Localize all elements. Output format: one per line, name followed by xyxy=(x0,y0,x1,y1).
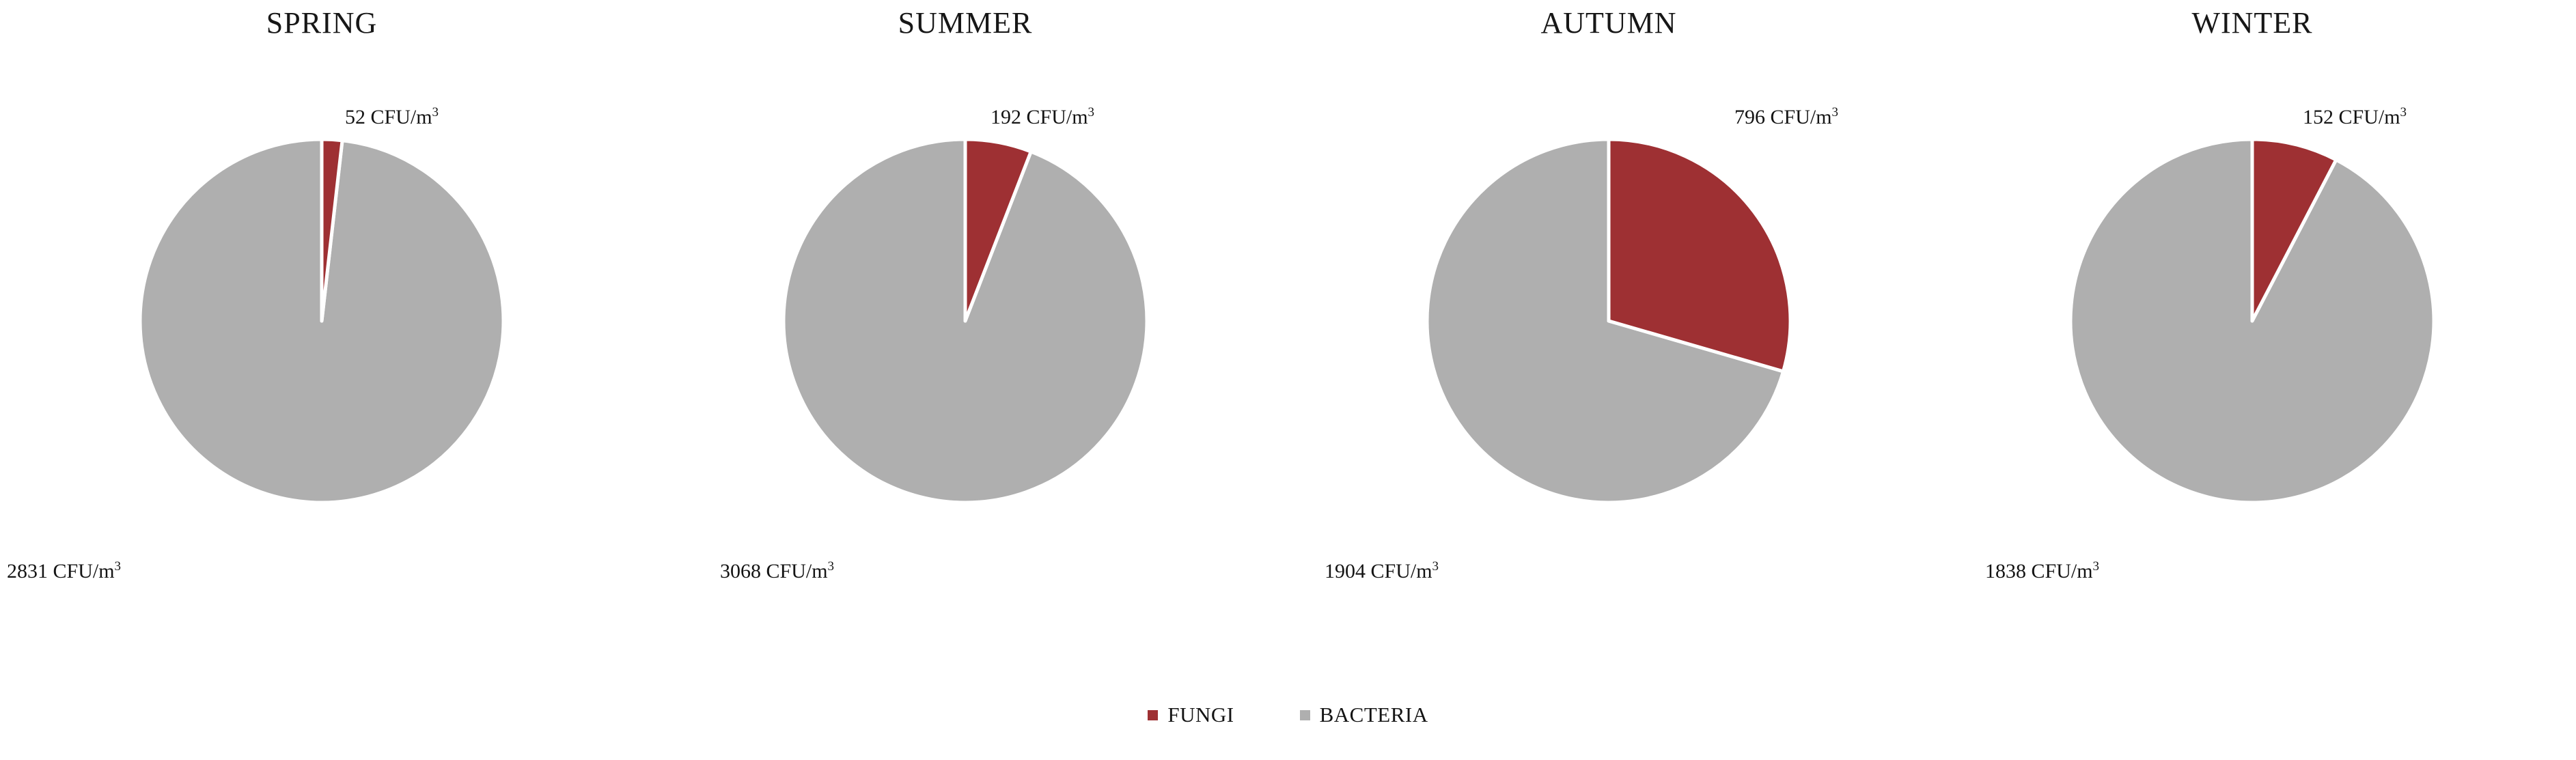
fungi-value-sup-winter: 3 xyxy=(2400,105,2407,119)
fungi-value-text-spring: 52 CFU/m xyxy=(345,106,432,128)
legend-item-bacteria[interactable]: BACTERIA xyxy=(1300,703,1428,727)
legend-label-bacteria: BACTERIA xyxy=(1320,703,1428,727)
bacteria-value-label-winter: 1838 CFU/m3 xyxy=(1985,560,2099,583)
pie-panel-winter: WINTER 152 CFU/m3 1838 CFU/m3 xyxy=(1930,0,2574,683)
bacteria-value-sup-autumn: 3 xyxy=(1432,559,1439,574)
legend-swatch-fungi-icon xyxy=(1148,710,1158,720)
pie-svg-autumn xyxy=(1417,130,1800,512)
pie-chart-figure: SPRING 52 CFU/m3 2831 CFU/m3 SUMMER 192 … xyxy=(0,0,2576,760)
bacteria-value-text-winter: 1838 CFU/m xyxy=(1985,560,2093,582)
bacteria-value-sup-summer: 3 xyxy=(828,559,835,574)
pie-svg-winter xyxy=(2061,130,2443,512)
bacteria-value-label-summer: 3068 CFU/m3 xyxy=(720,560,834,583)
fungi-value-label-winter: 152 CFU/m3 xyxy=(2303,106,2407,129)
fungi-value-text-autumn: 796 CFU/m xyxy=(1734,106,1832,128)
bacteria-value-sup-spring: 3 xyxy=(115,559,122,574)
fungi-value-text-summer: 192 CFU/m xyxy=(991,106,1088,128)
legend-swatch-bacteria-icon xyxy=(1300,710,1310,720)
bacteria-value-label-spring: 2831 CFU/m3 xyxy=(7,560,121,583)
fungi-value-sup-autumn: 3 xyxy=(1832,105,1839,119)
fungi-value-label-spring: 52 CFU/m3 xyxy=(345,106,439,129)
pie-panel-autumn: AUTUMN 796 CFU/m3 1904 CFU/m3 xyxy=(1287,0,1930,683)
pie-svg-summer xyxy=(774,130,1157,512)
bacteria-value-text-spring: 2831 CFU/m xyxy=(7,560,115,582)
fungi-value-label-autumn: 796 CFU/m3 xyxy=(1734,106,1838,129)
bacteria-value-text-summer: 3068 CFU/m xyxy=(720,560,828,582)
bacteria-value-sup-winter: 3 xyxy=(2093,559,2100,574)
pie-panel-summer: SUMMER 192 CFU/m3 3068 CFU/m3 xyxy=(643,0,1287,683)
bacteria-value-label-autumn: 1904 CFU/m3 xyxy=(1325,560,1439,583)
legend-label-fungi: FUNGI xyxy=(1167,703,1234,727)
fungi-value-label-summer: 192 CFU/m3 xyxy=(991,106,1094,129)
pie-panel-spring: SPRING 52 CFU/m3 2831 CFU/m3 xyxy=(0,0,643,683)
chart-legend: FUNGI BACTERIA xyxy=(0,703,2576,727)
fungi-value-text-winter: 152 CFU/m xyxy=(2303,106,2400,128)
bacteria-value-text-autumn: 1904 CFU/m xyxy=(1325,560,1432,582)
legend-item-fungi[interactable]: FUNGI xyxy=(1148,703,1234,727)
fungi-value-sup-summer: 3 xyxy=(1088,105,1095,119)
fungi-value-sup-spring: 3 xyxy=(432,105,439,119)
pie-svg-spring xyxy=(130,130,513,512)
